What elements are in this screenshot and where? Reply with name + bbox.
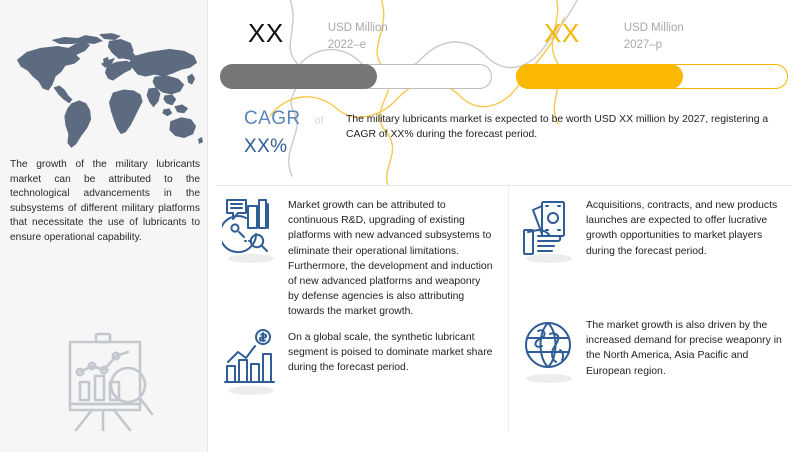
insight-card: The market growth is also driven by the …	[520, 316, 792, 379]
infographic-root: The growth of the military lubricants ma…	[0, 0, 800, 452]
insight-card-text: Market growth can be attributed to conti…	[288, 196, 493, 320]
percent-bar-chart-search-icon	[222, 196, 280, 258]
main-content: XX USD Million 2022–e XX USD Million 202…	[208, 0, 800, 452]
stat-card-2027: XX USD Million 2027–p	[504, 18, 800, 89]
cagr-connector: of	[315, 115, 324, 127]
progress-bar-fill-2022	[220, 64, 377, 89]
stat-unit-2022: USD Million 2022–e	[328, 20, 388, 53]
icon-shadow	[228, 254, 274, 263]
insight-card-text: On a global scale, the synthetic lubrica…	[288, 328, 493, 376]
hand-holding-money-icon	[520, 196, 578, 258]
cagr-label: CAGR	[244, 108, 301, 130]
stat-card-2022: XX USD Million 2022–e	[208, 18, 504, 89]
globe-icon	[520, 316, 578, 378]
stats-row: XX USD Million 2022–e XX USD Million 202…	[208, 0, 800, 89]
sidebar-intro-text: The growth of the military lubricants ma…	[10, 158, 200, 246]
stat-unit-2027: USD Million 2027–p	[624, 20, 684, 53]
stat-value-2027: XX	[544, 18, 580, 48]
insight-card: Market growth can be attributed to conti…	[222, 196, 500, 320]
progress-bar-2027	[516, 64, 788, 89]
stat-header-2022: XX USD Million 2022–e	[220, 18, 492, 64]
insight-card-text: Acquisitions, contracts, and new product…	[586, 196, 786, 259]
sidebar: The growth of the military lubricants ma…	[0, 0, 208, 452]
progress-bar-fill-2027	[516, 64, 683, 89]
growth-bar-chart-dollar-icon	[222, 328, 280, 390]
icon-shadow	[526, 254, 572, 263]
world-map-icon	[6, 28, 204, 154]
insight-card: On a global scale, the synthetic lubrica…	[222, 328, 500, 390]
cards-grid: Market growth can be attributed to conti…	[208, 190, 800, 440]
stat-unit-label-2022: USD Million	[328, 22, 388, 34]
stat-header-2027: XX USD Million 2027–p	[516, 18, 788, 64]
stat-year-2022: 2022–e	[328, 37, 388, 54]
horizontal-divider	[216, 185, 792, 186]
progress-bar-2022	[220, 64, 492, 89]
stat-year-2027: 2027–p	[624, 37, 684, 54]
icon-shadow	[228, 386, 274, 395]
insight-card-text: The market growth is also driven by the …	[586, 316, 786, 379]
presentation-chart-magnifier-icon	[52, 328, 162, 434]
stat-unit-label-2027: USD Million	[624, 22, 684, 34]
icon-shadow	[526, 374, 572, 383]
insight-card: Acquisitions, contracts, and new product…	[520, 196, 792, 259]
stat-value-2022: XX	[248, 18, 284, 48]
summary-text: The military lubricants market is expect…	[346, 112, 794, 143]
